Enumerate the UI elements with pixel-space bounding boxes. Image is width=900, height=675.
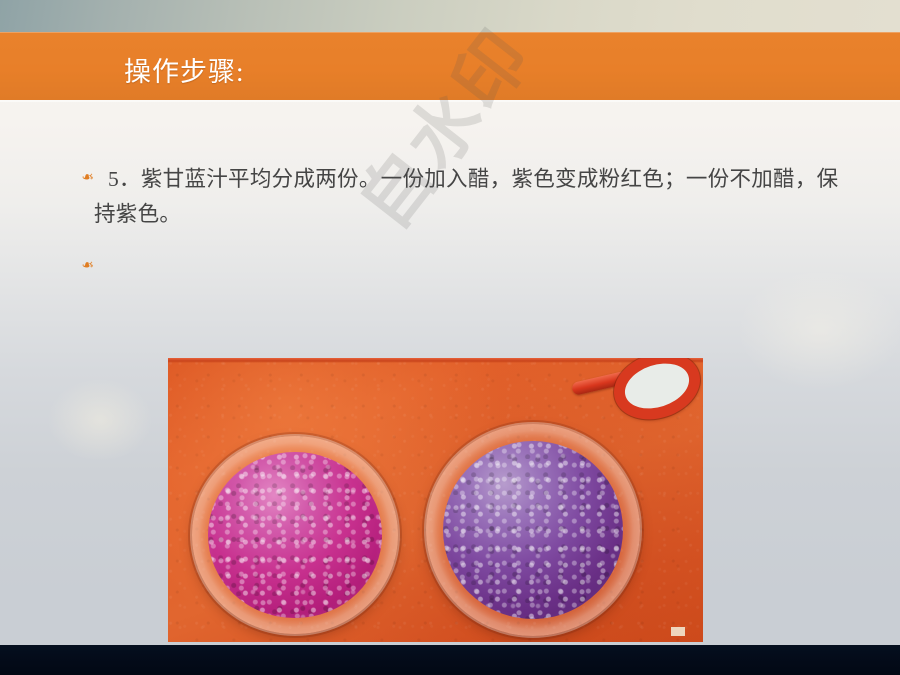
page-title: 操作步骤: [124, 56, 245, 88]
slide-footer-bar [0, 645, 900, 675]
slide-content: ❧ 5．紫甘蓝汁平均分成两份。一份加入醋，紫色变成粉红色；一份不加醋，保持紫色。… [0, 100, 900, 645]
left-bowl-texture [208, 452, 381, 618]
list-item: ❧ 5．紫甘蓝汁平均分成两份。一份加入醋，紫色变成粉红色；一份不加醋，保持紫色。 [64, 162, 854, 232]
flourish-bullet-icon: ❧ [64, 162, 94, 192]
left-bowl [192, 436, 398, 634]
slide-top-decorative-strip [0, 0, 900, 32]
scissors-icon [567, 358, 703, 430]
list-item: ❧ [64, 250, 854, 280]
slide-canvas: 操作步骤: ❧ 5．紫甘蓝汁平均分成两份。一份加入醋，紫色变成粉红色；一份不加醋… [0, 0, 900, 675]
list-item-text: 5．紫甘蓝汁平均分成两份。一份加入醋，紫色变成粉红色；一份不加醋，保持紫色。 [94, 162, 854, 232]
list-item-text [94, 250, 854, 278]
right-bowl-texture [443, 441, 623, 619]
right-bowl [426, 424, 640, 636]
experiment-photo [168, 358, 703, 642]
photo-corner-mark [671, 627, 685, 636]
scissors-ring [605, 358, 703, 430]
flourish-bullet-icon: ❧ [64, 250, 94, 280]
